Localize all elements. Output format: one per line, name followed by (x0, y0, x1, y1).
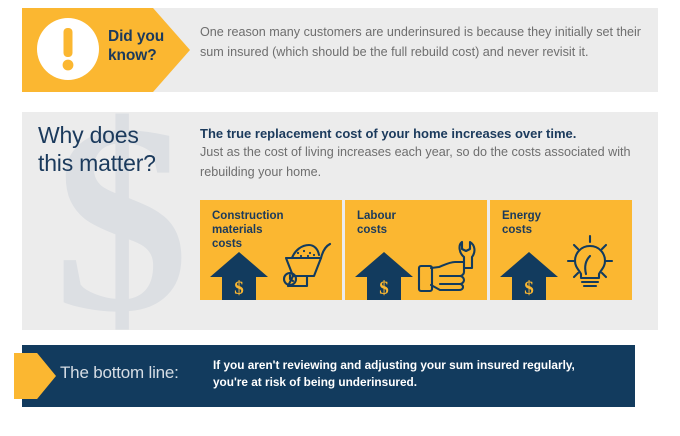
lightbulb-icon (554, 232, 626, 294)
exclamation-circle-icon (34, 15, 102, 83)
hand-wrench-icon (409, 232, 481, 294)
cost-card-energy: Energy costs $ (490, 200, 632, 300)
cost-card-labour: Labour costs $ (345, 200, 487, 300)
why-matter-lead-text: The true replacement cost of your home i… (200, 124, 650, 143)
house-arrow-dollar-icon: $ (498, 250, 560, 300)
svg-text:$: $ (524, 278, 534, 299)
svg-text:$: $ (379, 278, 389, 299)
did-you-know-section: Did you know? One reason many customers … (22, 8, 658, 92)
did-you-know-badge: Did you know? (22, 8, 190, 92)
why-matter-heading: Why does this matter? (38, 121, 208, 177)
svg-text:$: $ (234, 278, 244, 299)
why-matter-body-text: Just as the cost of living increases eac… (200, 143, 640, 182)
did-you-know-body-text: One reason many customers are underinsur… (200, 23, 648, 62)
house-arrow-dollar-icon: $ (353, 250, 415, 300)
house-arrow-dollar-icon: $ (208, 250, 270, 300)
wheelbarrow-icon (264, 232, 336, 294)
cost-card-construction-materials: Construction materials costs $ (200, 200, 342, 300)
why-does-this-matter-section: $ Why does this matter? The true replace… (22, 112, 658, 330)
bottom-line-body-text: If you aren't reviewing and adjusting yo… (213, 357, 613, 391)
did-you-know-label: Did you know? (108, 27, 184, 65)
bottom-line-label: The bottom line: (60, 363, 179, 383)
